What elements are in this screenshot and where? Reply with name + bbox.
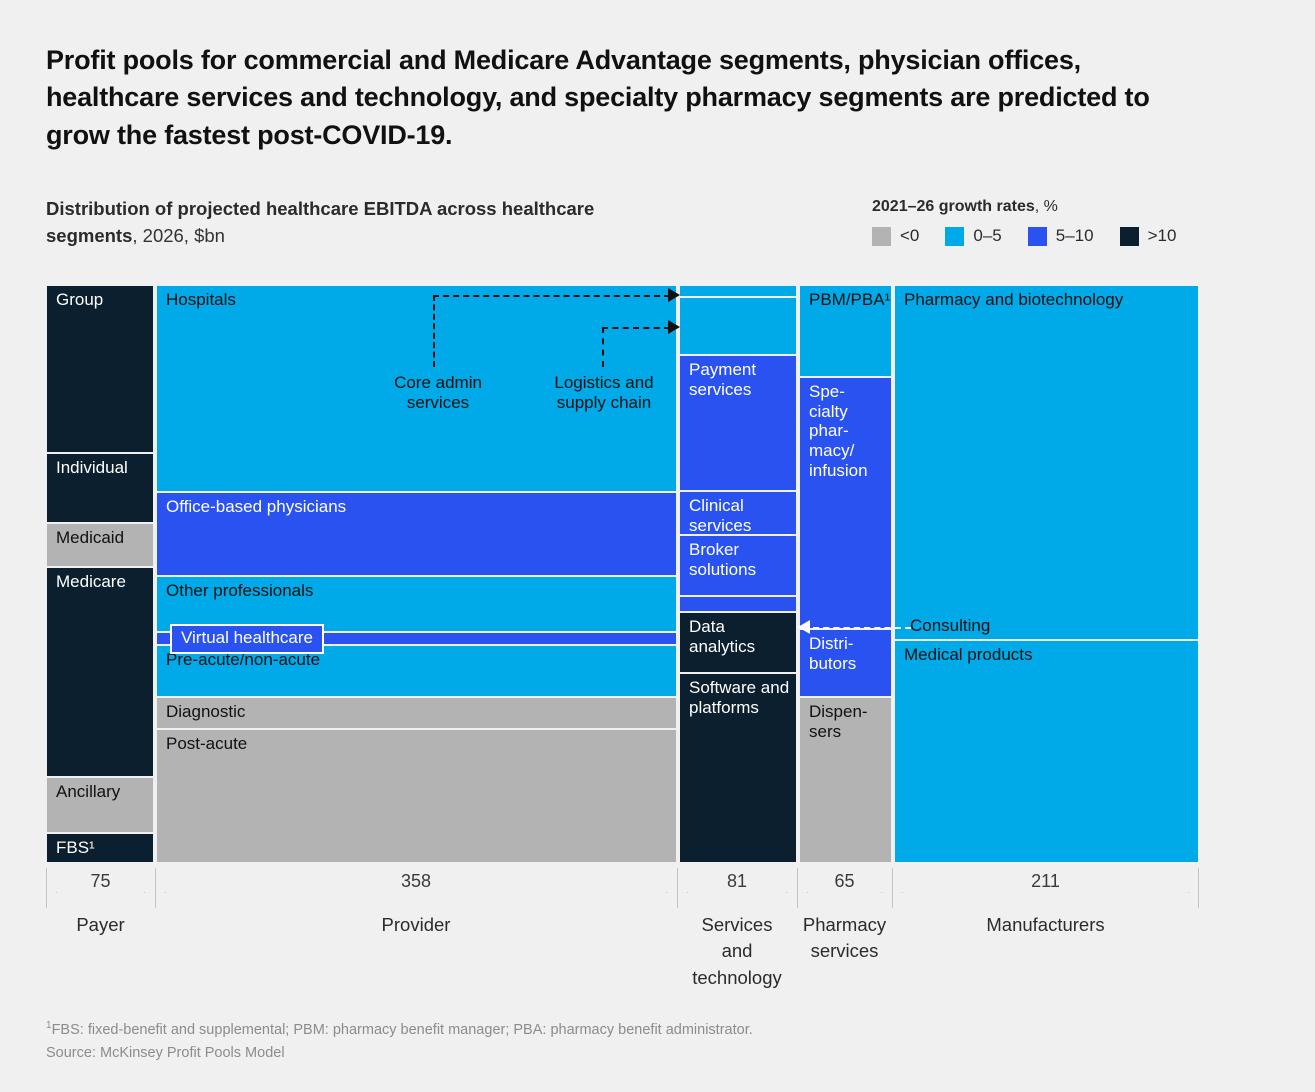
cell-label-payment-services: Payment services — [689, 360, 792, 399]
cell-label-office-physicians: Office-based physicians — [166, 497, 672, 517]
cell-label-ancillary: Ancillary — [56, 782, 149, 802]
cell-logistics-supply-chain[interactable] — [679, 297, 797, 355]
page-headline: Profit pools for commercial and Medicare… — [46, 42, 1206, 154]
logistics-leader-horizontal — [602, 327, 670, 329]
cell-distributors[interactable]: Distri- butors — [799, 629, 892, 697]
axis-value-manufacturers: 211 — [894, 871, 1197, 892]
column-manufacturers: Pharmacy and biotechnology Medical produ… — [894, 285, 1199, 863]
column-pharmacy-services: PBM/PBA¹ Spe- cialty phar- macy/ infusio… — [799, 285, 892, 863]
legend-title-bold: 2021–26 growth rates — [872, 198, 1035, 215]
cell-label-medicaid: Medicaid — [56, 528, 149, 548]
legend-label-5-10: 5–10 — [1056, 226, 1094, 246]
legend-label-gt10: >10 — [1148, 226, 1177, 246]
cell-label-medical-products: Medical products — [904, 645, 1194, 665]
cell-core-admin-services[interactable] — [679, 285, 797, 297]
legend-item-5-10: 5–10 — [1028, 226, 1094, 246]
consulting-leader — [813, 627, 911, 629]
axis-segment-provider: 358 — [157, 866, 675, 910]
legend-swatch-high — [1120, 227, 1139, 246]
cell-payment-services[interactable]: Payment services — [679, 355, 797, 491]
category-label-manufacturers: Manufacturers — [894, 912, 1197, 938]
cell-pbm-pba[interactable]: PBM/PBA¹ — [799, 285, 892, 377]
cell-specialty-pharmacy[interactable]: Spe- cialty phar- macy/ infusion — [799, 377, 892, 629]
core-admin-leader-vertical — [433, 295, 435, 367]
logistics-leader-vertical — [602, 327, 604, 367]
cell-dispensers[interactable]: Dispen- sers — [799, 697, 892, 863]
callout-logistics-supply-chain: Logistics and supply chain — [518, 373, 690, 414]
cell-group[interactable]: Group — [46, 285, 154, 453]
cell-label-dispensers: Dispen- sers — [809, 702, 887, 741]
marimekko-chart: Group Individual Medicaid Medicare Ancil… — [46, 285, 1199, 863]
chart-subtitle-bold: Distribution of projected healthcare EBI… — [46, 198, 594, 246]
legend-title: 2021–26 growth rates, % — [872, 198, 1292, 216]
cell-office-physicians[interactable]: Office-based physicians — [156, 492, 677, 576]
axis-value-services: 81 — [679, 871, 795, 892]
axis-segment-payer: 75 — [48, 866, 153, 910]
column-provider: Hospitals Office-based physicians Other … — [156, 285, 677, 863]
cell-data-analytics[interactable]: Data analytics — [679, 612, 797, 673]
legend-title-rest: , % — [1035, 198, 1058, 215]
cell-label-clinical-services: Clinical services — [689, 496, 792, 535]
cell-label-medicare: Medicare — [56, 572, 149, 592]
cell-label-pharmacy-biotechnology: Pharmacy and biotechnology — [904, 290, 1194, 310]
legend-label-lt0: <0 — [900, 226, 919, 246]
axis-segment-services: 81 — [679, 866, 795, 910]
axis-value-pharmacy: 65 — [799, 871, 890, 892]
cell-diagnostic[interactable]: Diagnostic — [156, 697, 677, 729]
cell-individual[interactable]: Individual — [46, 453, 154, 523]
cell-label-diagnostic: Diagnostic — [166, 702, 672, 722]
cell-consulting[interactable] — [679, 596, 797, 612]
core-admin-arrowhead — [668, 288, 680, 302]
cell-label-data-analytics: Data analytics — [689, 617, 792, 656]
logistics-arrowhead — [668, 320, 680, 334]
footnote-source: Source: McKinsey Profit Pools Model — [46, 1042, 1046, 1065]
legend-item-lt0: <0 — [872, 226, 919, 246]
axis-tick-1 — [155, 868, 156, 908]
cell-label-fbs: FBS¹ — [56, 838, 149, 858]
category-label-payer: Payer — [48, 912, 153, 938]
legend-items: <0 0–5 5–10 >10 — [872, 226, 1292, 246]
cell-label-other-professionals: Other professionals — [166, 581, 672, 601]
legend-swatch-low — [945, 227, 964, 246]
axis-value-provider: 358 — [157, 871, 675, 892]
legend: 2021–26 growth rates, % <0 0–5 5–10 >10 — [872, 198, 1292, 246]
axis-tick-4 — [892, 868, 893, 908]
category-label-services: Services and technology — [673, 912, 801, 991]
cell-medicare[interactable]: Medicare — [46, 567, 154, 777]
footnote: 1FBS: fixed-benefit and supplemental; PB… — [46, 1018, 1046, 1065]
cell-software-platforms[interactable]: Software and platforms — [679, 673, 797, 863]
consulting-arrowhead — [798, 620, 810, 634]
cell-medical-products[interactable]: Medical products — [894, 640, 1199, 863]
category-label-pharmacy: Pharmacy services — [795, 912, 894, 965]
footnote-abbreviations: FBS: fixed-benefit and supplemental; PBM… — [52, 1022, 753, 1038]
cell-label-broker-solutions: Broker solutions — [689, 540, 792, 579]
callout-core-admin-services: Core admin services — [358, 373, 518, 414]
cell-pharmacy-biotechnology[interactable]: Pharmacy and biotechnology — [894, 285, 1199, 640]
cell-fbs[interactable]: FBS¹ — [46, 833, 154, 863]
axis-tick-5 — [1198, 868, 1199, 908]
cell-label-software-platforms: Software and platforms — [689, 678, 792, 717]
category-labels: Payer Provider Services and technology P… — [46, 912, 1199, 1002]
cell-post-acute[interactable]: Post-acute — [156, 729, 677, 863]
cell-label-individual: Individual — [56, 458, 149, 478]
axis-segment-pharmacy: 65 — [799, 866, 890, 910]
column-services-technology: Payment services Clinical services Broke… — [679, 285, 797, 863]
legend-label-0-5: 0–5 — [973, 226, 1001, 246]
chart-subtitle-rest: , 2026, $bn — [132, 225, 225, 246]
footnote-line-1: 1FBS: fixed-benefit and supplemental; PB… — [46, 1018, 1046, 1042]
core-admin-leader-horizontal — [433, 295, 670, 297]
callout-consulting: Consulting — [910, 616, 990, 636]
column-payer: Group Individual Medicaid Medicare Ancil… — [46, 285, 154, 863]
cell-label-group: Group — [56, 290, 149, 310]
legend-swatch-negative — [872, 227, 891, 246]
category-label-provider: Provider — [157, 912, 675, 938]
cell-label-specialty-pharmacy: Spe- cialty phar- macy/ infusion — [809, 382, 887, 481]
cell-medicaid[interactable]: Medicaid — [46, 523, 154, 567]
legend-item-gt10: >10 — [1120, 226, 1177, 246]
axis-tick-2 — [677, 868, 678, 908]
value-axis: 75 358 81 65 211 — [46, 866, 1199, 910]
legend-item-0-5: 0–5 — [945, 226, 1001, 246]
axis-tick-3 — [797, 868, 798, 908]
cell-label-hospitals: Hospitals — [166, 290, 672, 310]
axis-tick-0 — [46, 868, 47, 908]
legend-swatch-mid — [1028, 227, 1047, 246]
chart-subtitle: Distribution of projected healthcare EBI… — [46, 196, 666, 250]
cell-label-post-acute: Post-acute — [166, 734, 672, 754]
cell-label-distributors: Distri- butors — [809, 634, 887, 673]
axis-value-payer: 75 — [48, 871, 153, 892]
axis-segment-manufacturers: 211 — [894, 866, 1197, 910]
cell-clinical-services[interactable]: Clinical services — [679, 491, 797, 535]
callout-virtual-healthcare: Virtual healthcare — [170, 624, 324, 654]
cell-ancillary[interactable]: Ancillary — [46, 777, 154, 833]
cell-broker-solutions[interactable]: Broker solutions — [679, 535, 797, 596]
cell-label-pbm-pba: PBM/PBA¹ — [809, 290, 887, 310]
